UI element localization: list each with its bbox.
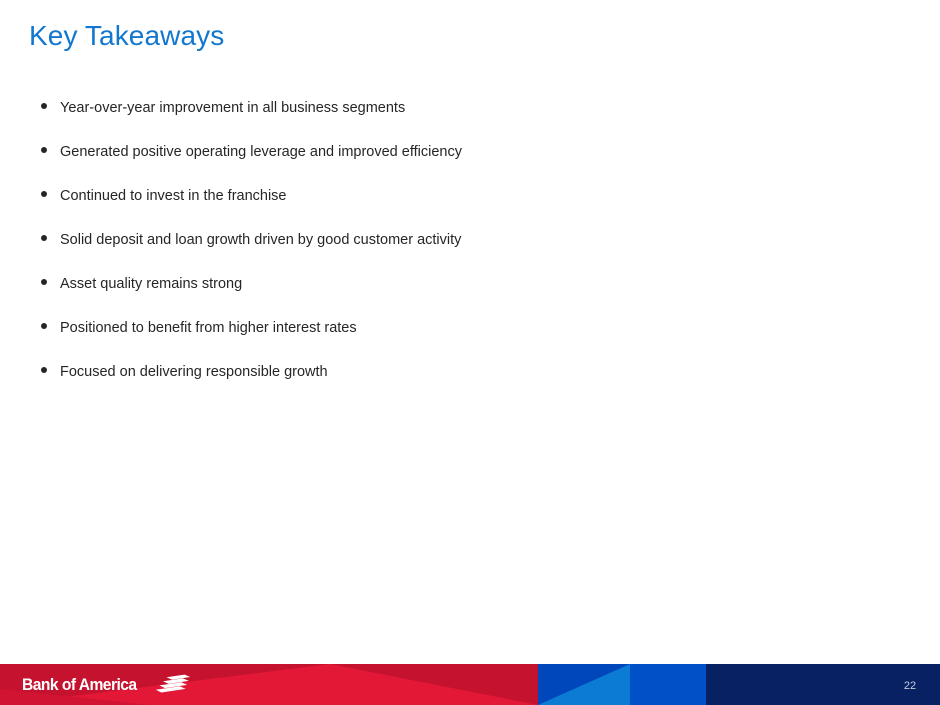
list-item: Solid deposit and loan growth driven by … — [36, 228, 896, 272]
bullet-dot-icon — [41, 279, 47, 285]
bank-of-america-flag-icon — [154, 674, 194, 696]
list-item-label: Continued to invest in the franchise — [60, 184, 287, 208]
page-title: Key Takeaways — [29, 16, 224, 56]
list-item-label: Solid deposit and loan growth driven by … — [60, 228, 461, 252]
list-item-label: Focused on delivering responsible growth — [60, 360, 328, 384]
bullet-dot-icon — [41, 191, 47, 197]
list-item-label: Year-over-year improvement in all busine… — [60, 96, 405, 120]
list-item: Asset quality remains strong — [36, 272, 896, 316]
bullet-dot-icon — [41, 147, 47, 153]
slide: Key Takeaways Year-over-year improvement… — [0, 0, 940, 705]
list-item-label: Generated positive operating leverage an… — [60, 140, 462, 164]
list-item: Generated positive operating leverage an… — [36, 140, 896, 184]
footer-chevron-right-shape — [330, 664, 538, 705]
footer-light-blue-triangle-shape — [538, 664, 630, 705]
bullet-dot-icon — [41, 323, 47, 329]
footer-band-mid-blue — [630, 664, 706, 705]
list-item: Focused on delivering responsible growth — [36, 360, 896, 404]
key-takeaways-list: Year-over-year improvement in all busine… — [36, 96, 896, 404]
list-item: Year-over-year improvement in all busine… — [36, 96, 896, 140]
footer-band-light-blue — [538, 664, 630, 705]
list-item-label: Asset quality remains strong — [60, 272, 242, 296]
list-item-label: Positioned to benefit from higher intere… — [60, 316, 357, 340]
bullet-dot-icon — [41, 235, 47, 241]
bank-of-america-logo: Bank of America — [22, 674, 194, 696]
list-item: Positioned to benefit from higher intere… — [36, 316, 896, 360]
bullet-dot-icon — [41, 367, 47, 373]
bullet-dot-icon — [41, 103, 47, 109]
list-item: Continued to invest in the franchise — [36, 184, 896, 228]
page-number: 22 — [898, 679, 922, 693]
logo-wordmark: Bank of America — [22, 675, 137, 695]
